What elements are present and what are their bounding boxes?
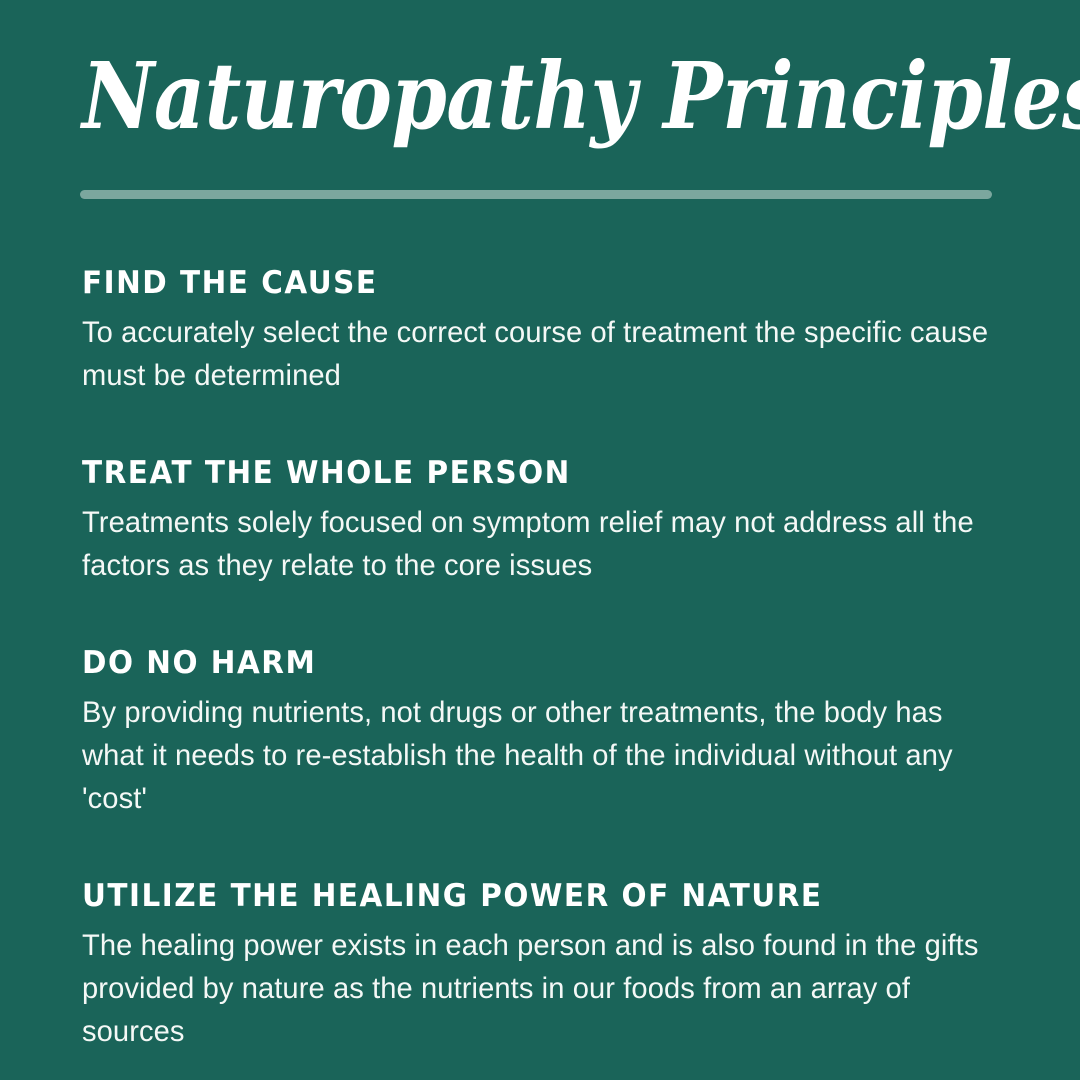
principle-item: FIND THE CAUSE To accurately select the …: [82, 265, 1026, 397]
principle-heading: UTILIZE THE HEALING POWER OF NATURE: [82, 878, 979, 914]
principle-body: The healing power exists in each person …: [82, 924, 998, 1053]
poster-canvas: Naturopathy Principles FIND THE CAUSE To…: [0, 0, 1080, 1080]
principle-body: To accurately select the correct course …: [82, 311, 998, 397]
principle-item: DO NO HARM By providing nutrients, not d…: [82, 645, 1026, 820]
principle-item: TREAT THE WHOLE PERSON Treatments solely…: [82, 455, 1026, 587]
principle-heading: TREAT THE WHOLE PERSON: [82, 455, 979, 491]
principle-heading: DO NO HARM: [82, 645, 979, 681]
title-container: Naturopathy Principles: [82, 44, 1022, 148]
page-title: Naturopathy Principles: [82, 44, 890, 148]
principle-body: By providing nutrients, not drugs or oth…: [82, 691, 998, 820]
title-divider-rule: [80, 190, 992, 199]
principle-heading: FIND THE CAUSE: [82, 265, 979, 301]
principle-item: UTILIZE THE HEALING POWER OF NATURE The …: [82, 878, 1026, 1053]
principle-body: Treatments solely focused on symptom rel…: [82, 501, 998, 587]
principles-list: FIND THE CAUSE To accurately select the …: [82, 265, 1026, 1053]
